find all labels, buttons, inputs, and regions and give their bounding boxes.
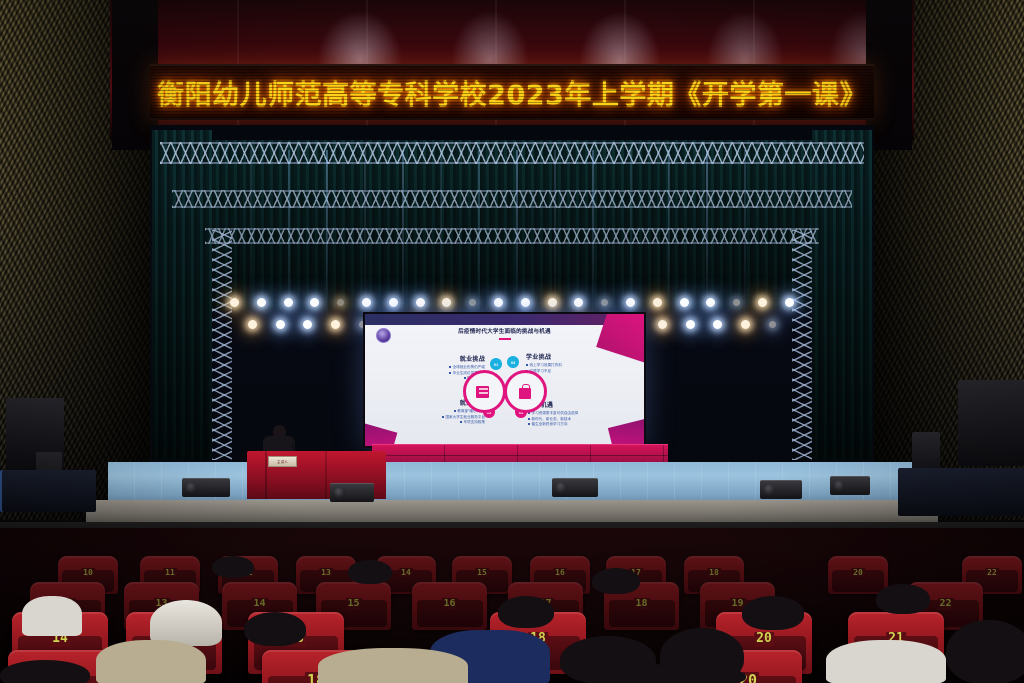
stage-lamp-icon <box>469 299 476 306</box>
audience-member <box>212 556 254 578</box>
bullet-dot <box>454 410 456 412</box>
bullet-dot <box>528 418 530 420</box>
light-beam <box>364 150 366 320</box>
stage-monitor-4 <box>760 480 802 499</box>
seat-number: 15 <box>475 568 489 577</box>
audience-member <box>22 596 82 636</box>
bullet-dot <box>449 366 451 368</box>
seat-number: 22 <box>937 598 953 610</box>
audience-member <box>318 648 468 683</box>
stage-lamp-icon <box>494 298 503 307</box>
light-beam <box>706 150 708 320</box>
bullet-dot <box>464 377 466 379</box>
briefcase-glyph <box>517 384 534 400</box>
light-beam <box>554 150 556 320</box>
audience-member <box>498 596 554 628</box>
audience-member <box>96 640 206 683</box>
stage-monitor-1 <box>182 478 230 497</box>
seat-number: 14 <box>399 568 413 577</box>
audience-seating: 1011121314151617182022121314151617181922… <box>0 528 1024 683</box>
seat-number: 16 <box>441 598 457 610</box>
slide-title-underline <box>499 338 511 340</box>
stage-lamp-icon <box>303 320 312 329</box>
stage-lamp-icon <box>230 298 239 307</box>
truss-column-left <box>212 230 232 460</box>
stage-lamp-icon <box>389 298 398 307</box>
bullet-dot <box>449 372 451 374</box>
stage-monitor-3 <box>552 478 598 497</box>
seat-number: 20 <box>851 568 865 577</box>
back-curtain <box>168 140 856 310</box>
seat-number: 15 <box>345 598 361 610</box>
audience-member <box>946 620 1024 683</box>
document-icon <box>463 370 506 413</box>
stage-lamp-icon <box>686 320 695 329</box>
seat-number: 13 <box>319 568 333 577</box>
stage-lamp-icon <box>658 320 667 329</box>
bullet-dot <box>460 421 462 423</box>
stage-lamp-icon <box>310 298 319 307</box>
stage-lamp-icon <box>574 298 583 307</box>
bullet-dot <box>442 416 444 418</box>
stage-lamp-icon <box>276 320 285 329</box>
light-beam <box>668 150 670 320</box>
audience-member <box>742 596 804 630</box>
bullet-item: 专项支持政策 <box>377 420 485 426</box>
seat-number: 10 <box>81 568 95 577</box>
right-curtain-leg <box>812 130 872 460</box>
quadrant-bullets: 教育部"暖心行动"国家大学生就业服务平台专项支持政策 <box>377 409 485 426</box>
light-beam <box>744 150 746 320</box>
seat-number: 22 <box>985 568 999 577</box>
light-beam <box>326 150 328 320</box>
stage-lamp-icon <box>758 298 767 307</box>
stage-lamp-icon <box>248 320 257 329</box>
seat-number: 18 <box>633 598 649 610</box>
light-beam <box>592 150 594 320</box>
quadrant-bullets: 线上学习效果打折扣实践学习不足 <box>526 363 634 374</box>
left-subwoofer <box>0 470 96 512</box>
presentation-slide: 后疫情时代大学生面临的挑战与机遇 就业挑战 全球就业形势仍严峻毕业生岗位供需矛盾… <box>365 314 644 446</box>
audience-member <box>0 660 90 683</box>
truss-column-right <box>792 230 812 460</box>
seat-number: 11 <box>163 568 177 577</box>
audience-seat[interactable]: 20 <box>828 556 888 594</box>
stage-lamp-icon <box>521 298 530 307</box>
left-curtain-leg <box>152 130 212 460</box>
led-screen: 后疫情时代大学生面临的挑战与机遇 就业挑战 全球就业形势仍严峻毕业生岗位供需矛盾… <box>363 312 646 448</box>
nameplate: 主讲人 <box>268 456 297 467</box>
quadrant-heading: 就业挑战 <box>377 354 485 363</box>
truss-row-2 <box>172 190 852 208</box>
slide-top-bar <box>365 314 644 325</box>
slide-badge-03: 03 <box>507 356 519 368</box>
stage-lamp-icon <box>442 298 451 307</box>
light-beam <box>516 150 518 320</box>
seat-number: 18 <box>707 568 721 577</box>
bullet-item: 实践学习不足 <box>526 369 634 375</box>
quadrant-heading: 学业挑战 <box>526 352 634 361</box>
right-line-array <box>958 380 1024 466</box>
truss-row-3 <box>205 228 819 244</box>
stage-lamp-icon <box>331 320 340 329</box>
slide-quadrant-3: 学业挑战 线上学习效果打折扣实践学习不足 <box>526 352 634 374</box>
light-bar-upper <box>230 296 794 308</box>
audience-seat[interactable]: 16 <box>412 582 487 630</box>
light-beam <box>478 150 480 320</box>
audience-member <box>244 612 306 646</box>
stage-lamp-icon <box>680 298 689 307</box>
audience-member <box>348 560 392 584</box>
bullet-item: 催生全新终身学习方向 <box>528 422 636 428</box>
light-beam <box>440 150 442 320</box>
audience-member <box>596 664 746 683</box>
bullet-dot <box>528 423 530 425</box>
led-banner: 衡阳幼儿师范高等专科学校2023年上学期《开学第一课》 <box>150 64 874 120</box>
stage-lamp-icon <box>713 320 722 329</box>
quadrant-bullets: 学习资源更丰富可供自由选择新时代、新业态、新技术催生全新终身学习方向 <box>528 411 636 428</box>
seat-number: 20 <box>754 632 774 647</box>
light-beam <box>288 150 290 320</box>
truss-row-1 <box>160 142 864 164</box>
audience-member <box>876 584 930 614</box>
stage-lamp-icon <box>601 299 608 306</box>
stage-lamp-icon <box>416 298 425 307</box>
audience-member <box>592 568 640 594</box>
stage-lamp-icon <box>733 299 740 306</box>
auditorium-screenshot: 衡阳幼儿师范高等专科学校2023年上学期《开学第一课》 后疫情时代大学生面临的挑… <box>0 0 1024 683</box>
stage-lamp-icon <box>257 298 266 307</box>
stage-lamp-icon <box>337 299 344 306</box>
slide-quadrant-4: 学业机遇 学习资源更丰富可供自由选择新时代、新业态、新技术催生全新终身学习方向 <box>528 400 636 428</box>
seat-number: 16 <box>553 568 567 577</box>
slide-title: 后疫情时代大学生面临的挑战与机遇 <box>365 327 644 335</box>
seat-number: 14 <box>251 598 267 610</box>
slide-badge-01: 01 <box>490 358 502 370</box>
led-banner-text: 衡阳幼儿师范高等专科学校2023年上学期《开学第一课》 <box>157 73 867 112</box>
stage-monitor-2 <box>330 483 374 502</box>
briefcase-icon <box>504 370 547 413</box>
stage-lamp-icon <box>741 320 750 329</box>
document-glyph <box>476 384 493 400</box>
stage-lamp-icon <box>769 321 776 328</box>
light-beam <box>630 150 632 320</box>
bullet-dot <box>526 364 528 366</box>
stage-lamp-icon <box>653 298 662 307</box>
right-subwoofer <box>898 468 1024 516</box>
stage-monitor-5 <box>830 476 870 495</box>
light-beam <box>250 150 252 320</box>
stage-lamp-icon <box>785 298 794 307</box>
light-beam <box>402 150 404 320</box>
audience-member <box>826 640 946 683</box>
